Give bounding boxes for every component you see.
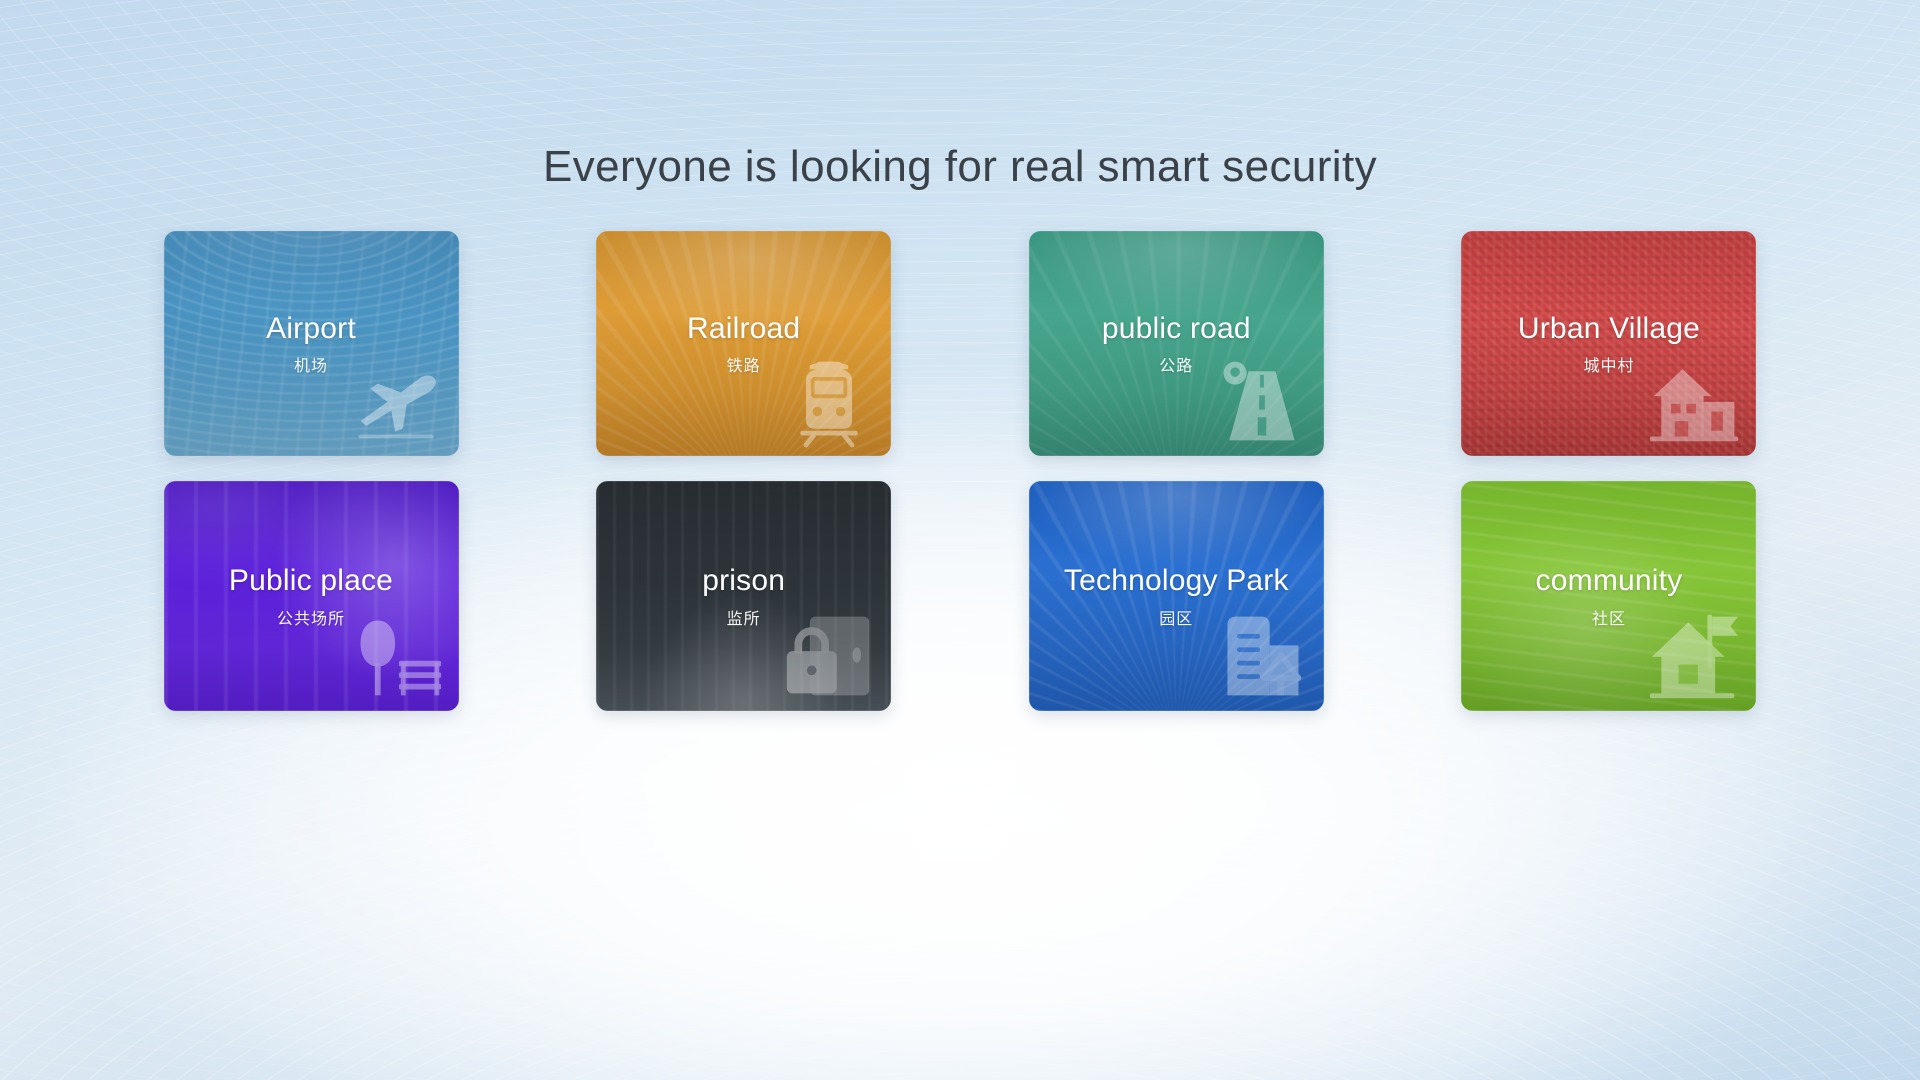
- technology-park-card-shade: [1029, 481, 1324, 711]
- scenario-card-urban-village[interactable]: Urban Village 城中村: [1461, 231, 1756, 456]
- scenario-card-public-road[interactable]: public road 公路: [1029, 231, 1324, 456]
- railroad-card-shade: [596, 231, 891, 456]
- scenario-card-community[interactable]: community 社区: [1461, 481, 1756, 711]
- scenario-card-technology-park[interactable]: Technology Park 园区: [1029, 481, 1324, 711]
- page-root: Everyone is looking for real smart secur…: [0, 0, 1920, 1080]
- public-road-card-shade: [1029, 231, 1324, 456]
- airport-card-shade: [164, 231, 459, 456]
- urban-village-card-shade: [1461, 231, 1756, 456]
- scenario-card-public-place[interactable]: Public place 公共场所: [164, 481, 459, 711]
- public-place-card-shade: [164, 481, 459, 711]
- community-card-shade: [1461, 481, 1756, 711]
- prison-card-shade: [596, 481, 891, 711]
- scenario-card-grid: Airport 机场 Ra: [164, 231, 1757, 711]
- page-title: Everyone is looking for real smart secur…: [543, 143, 1377, 191]
- scenario-card-prison[interactable]: prison 监所: [596, 481, 891, 711]
- scenario-card-airport[interactable]: Airport 机场: [164, 231, 459, 456]
- scenario-card-railroad[interactable]: Railroad 铁路: [596, 231, 891, 456]
